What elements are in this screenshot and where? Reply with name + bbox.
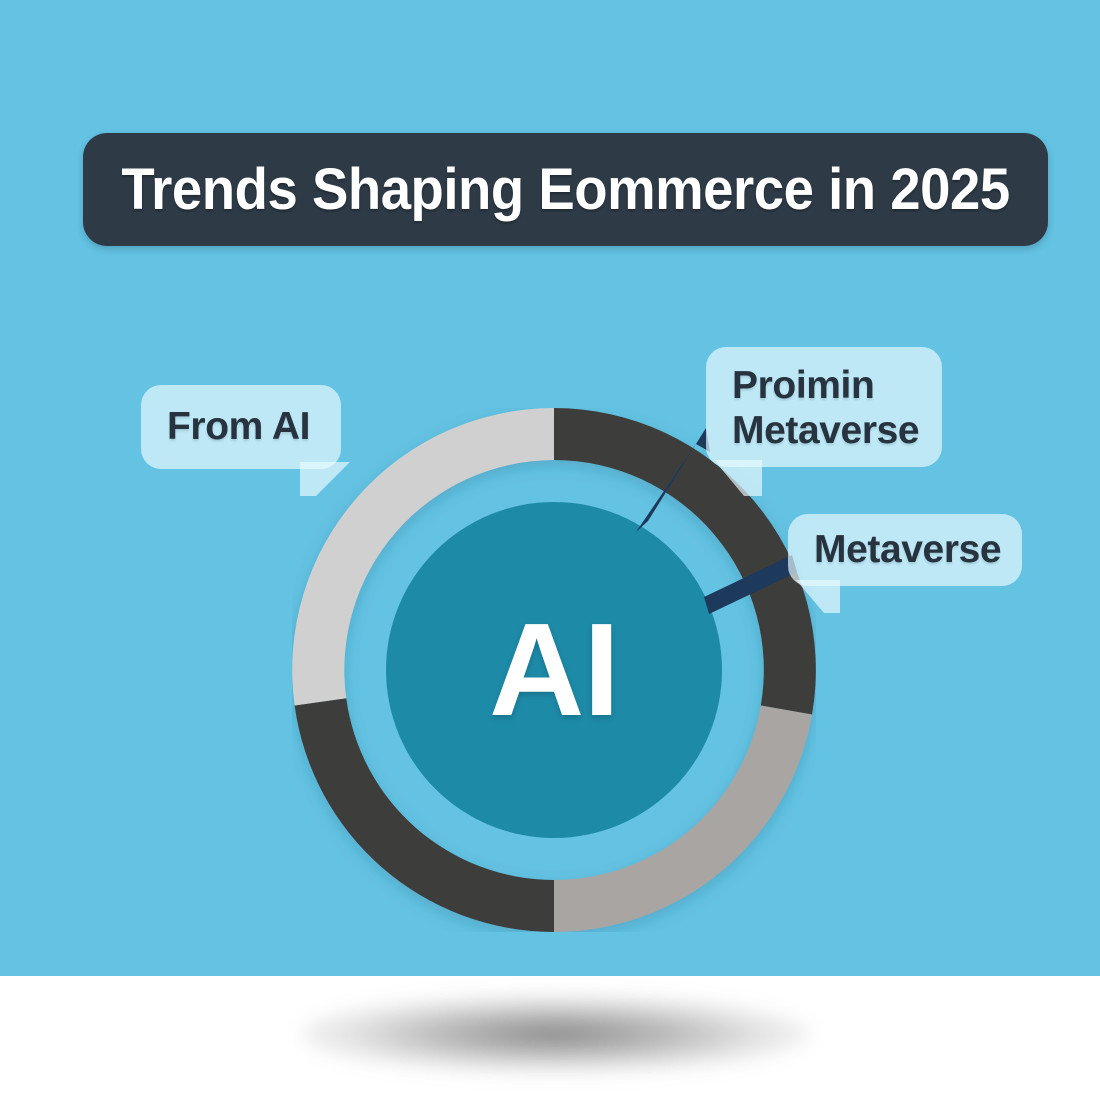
stage-drop-shadow (300, 995, 810, 1073)
title-bar: Trends Shaping Eommerce in 2025 (83, 133, 1048, 246)
donut-center-hub (386, 502, 722, 838)
infographic-canvas: Trends Shaping Eommerce in 2025 (0, 0, 1100, 1100)
callout-metaverse[interactable]: Metaverse (788, 514, 1022, 586)
callout-metaverse-line-1: Metaverse (814, 527, 1001, 572)
callout-from-ai-line-1: From AI (167, 404, 310, 449)
callout-prominent-metaverse-line-2: Metaverse (732, 408, 916, 453)
callout-from-ai[interactable]: From AI (141, 385, 341, 469)
callout-prominent-metaverse[interactable]: Proimin Metaverse (706, 347, 942, 467)
callout-prominent-metaverse-line-1: Proimin (732, 363, 916, 408)
page-title: Trends Shaping Eommerce in 2025 (121, 156, 1009, 223)
